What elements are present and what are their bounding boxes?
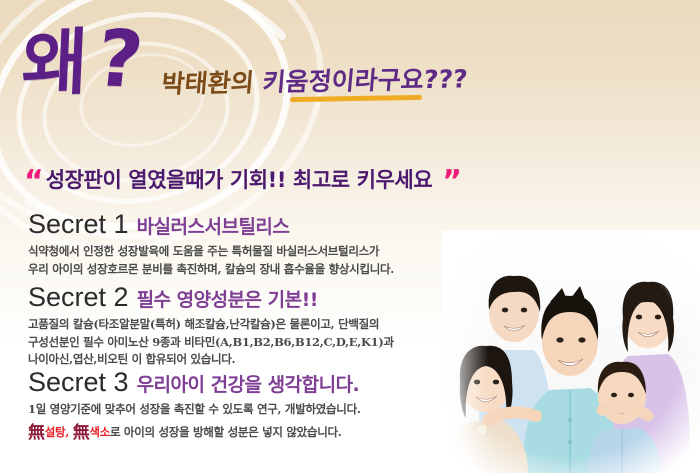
secret-1-label: Secret 1 — [28, 209, 129, 239]
secret-1-body: 식약청에서 인정한 성장발육에 도움을 주는 특허물질 바실러스서브털리스가 우… — [28, 243, 448, 278]
secret-3-heading: Secret 3우리아이 건강을 생각합니다. — [28, 368, 448, 396]
why-word: 왜 — [20, 20, 91, 106]
family-photo — [442, 230, 700, 473]
secret-3-no-additives-line: 無설탕, 無색소로 아이의 성장을 방해할 성분은 넣지 않았습니다. — [28, 421, 448, 447]
handwritten-subtitle: 박태환의 키움정이라구요??? — [160, 59, 469, 100]
mu-character-1: 無 — [28, 423, 45, 443]
secret-3-body: 1일 영양기준에 맞추어 성장을 촉진할 수 있도록 연구, 개발하였습니다. — [28, 401, 448, 418]
secret-section-2: Secret 2필수 영양성분은 기본!! 고품질의 칼슘(타조알분말(특허) … — [28, 283, 448, 368]
secret-2-body: 고품질의 칼슘(타조알분말(특허) 해조칼슘,난각칼슘)은 물론이고, 단백질의… — [28, 316, 448, 368]
handwritten-underline — [290, 95, 422, 102]
no-additives-rest: 로 아이의 성장을 방해할 성분은 넣지 않았습니다. — [110, 425, 342, 439]
quote-text: 성장판이 열였을때가 기회!! 최고로 키우세요 — [46, 168, 433, 192]
quote-open-icon: “ — [24, 164, 42, 199]
secret-3-label: Secret 3 — [28, 367, 129, 397]
secret-1-subtitle: 바실러스서브틸리스 — [137, 216, 290, 238]
secret-3-subtitle: 우리아이 건강을 생각합니다. — [137, 374, 360, 396]
no-sugar-label: 설탕, — [45, 425, 69, 439]
secret-2-heading: Secret 2필수 영양성분은 기본!! — [28, 283, 448, 311]
handwritten-product: 키움정이라구요??? — [261, 64, 469, 99]
secret-2-label: Secret 2 — [28, 282, 129, 312]
secret-1-heading: Secret 1바실러스서브틸리스 — [28, 210, 448, 238]
handwritten-brand: 박태환의 — [160, 68, 255, 99]
no-colorant-label: 색소 — [89, 425, 110, 439]
headline-quote: “성장판이 열였을때가 기회!! 최고로 키우세요” — [24, 164, 460, 199]
why-question-mark: ? — [93, 20, 148, 100]
promo-banner: 왜? 박태환의 키움정이라구요??? “성장판이 열였을때가 기회!! 최고로 … — [0, 0, 700, 473]
secret-section-1: Secret 1바실러스서브틸리스 식약청에서 인정한 성장발육에 도움을 주는… — [28, 210, 448, 278]
secret-2-subtitle: 필수 영양성분은 기본!! — [137, 289, 318, 311]
mu-character-2: 無 — [73, 423, 90, 443]
secret-section-3: Secret 3우리아이 건강을 생각합니다. 1일 영양기준에 맞추어 성장을… — [28, 368, 448, 446]
quote-close-icon: ” — [442, 164, 460, 199]
page-title: 왜? — [20, 20, 145, 101]
header: 왜? 박태환의 키움정이라구요??? — [0, 0, 700, 150]
